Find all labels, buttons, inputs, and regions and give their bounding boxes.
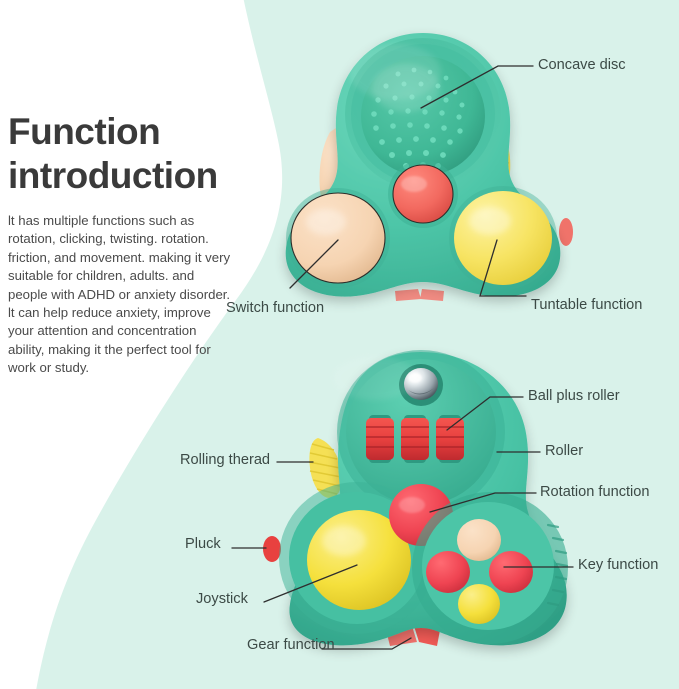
key-tan — [457, 519, 501, 561]
key-red-r — [489, 551, 533, 593]
gear-red-3 — [436, 418, 464, 460]
label-gear-function: Gear function — [247, 637, 335, 653]
top-gear-tab-left — [395, 289, 421, 301]
label-rotation-function: Rotation function — [540, 484, 650, 500]
center-button — [393, 165, 453, 223]
label-concave-disc: Concave disc — [538, 57, 626, 73]
label-roller: Roller — [545, 443, 583, 459]
gear-red-2 — [401, 418, 429, 460]
label-ball-plus-roller: Ball plus roller — [528, 388, 620, 404]
top-gear-tab-right — [420, 289, 444, 301]
pluck-nub — [263, 536, 281, 562]
gear-slots — [366, 415, 464, 463]
headline-line-2: introduction — [8, 155, 218, 196]
infographic-canvas: Function introduction lt has multiple fu… — [0, 0, 679, 689]
key-yellow — [458, 584, 500, 624]
label-tuntable-function: Tuntable function — [531, 297, 642, 313]
gear-red-1 — [366, 418, 394, 460]
top-side-nub — [559, 218, 573, 246]
headline-line-1: Function — [8, 111, 160, 152]
label-pluck: Pluck — [185, 536, 221, 552]
switch-pad — [291, 193, 385, 283]
key-red-l — [426, 551, 470, 593]
label-rolling-therad: Rolling therad — [180, 452, 270, 468]
page-title: Function introduction — [8, 110, 258, 198]
intro-body-text: lt has multiple functions such as rotati… — [8, 212, 236, 378]
turntable — [454, 191, 552, 285]
intro-panel: Function introduction lt has multiple fu… — [8, 110, 258, 378]
label-joystick: Joystick — [196, 591, 248, 607]
label-key-function: Key function — [578, 557, 658, 573]
label-switch-function: Switch function — [226, 300, 324, 316]
